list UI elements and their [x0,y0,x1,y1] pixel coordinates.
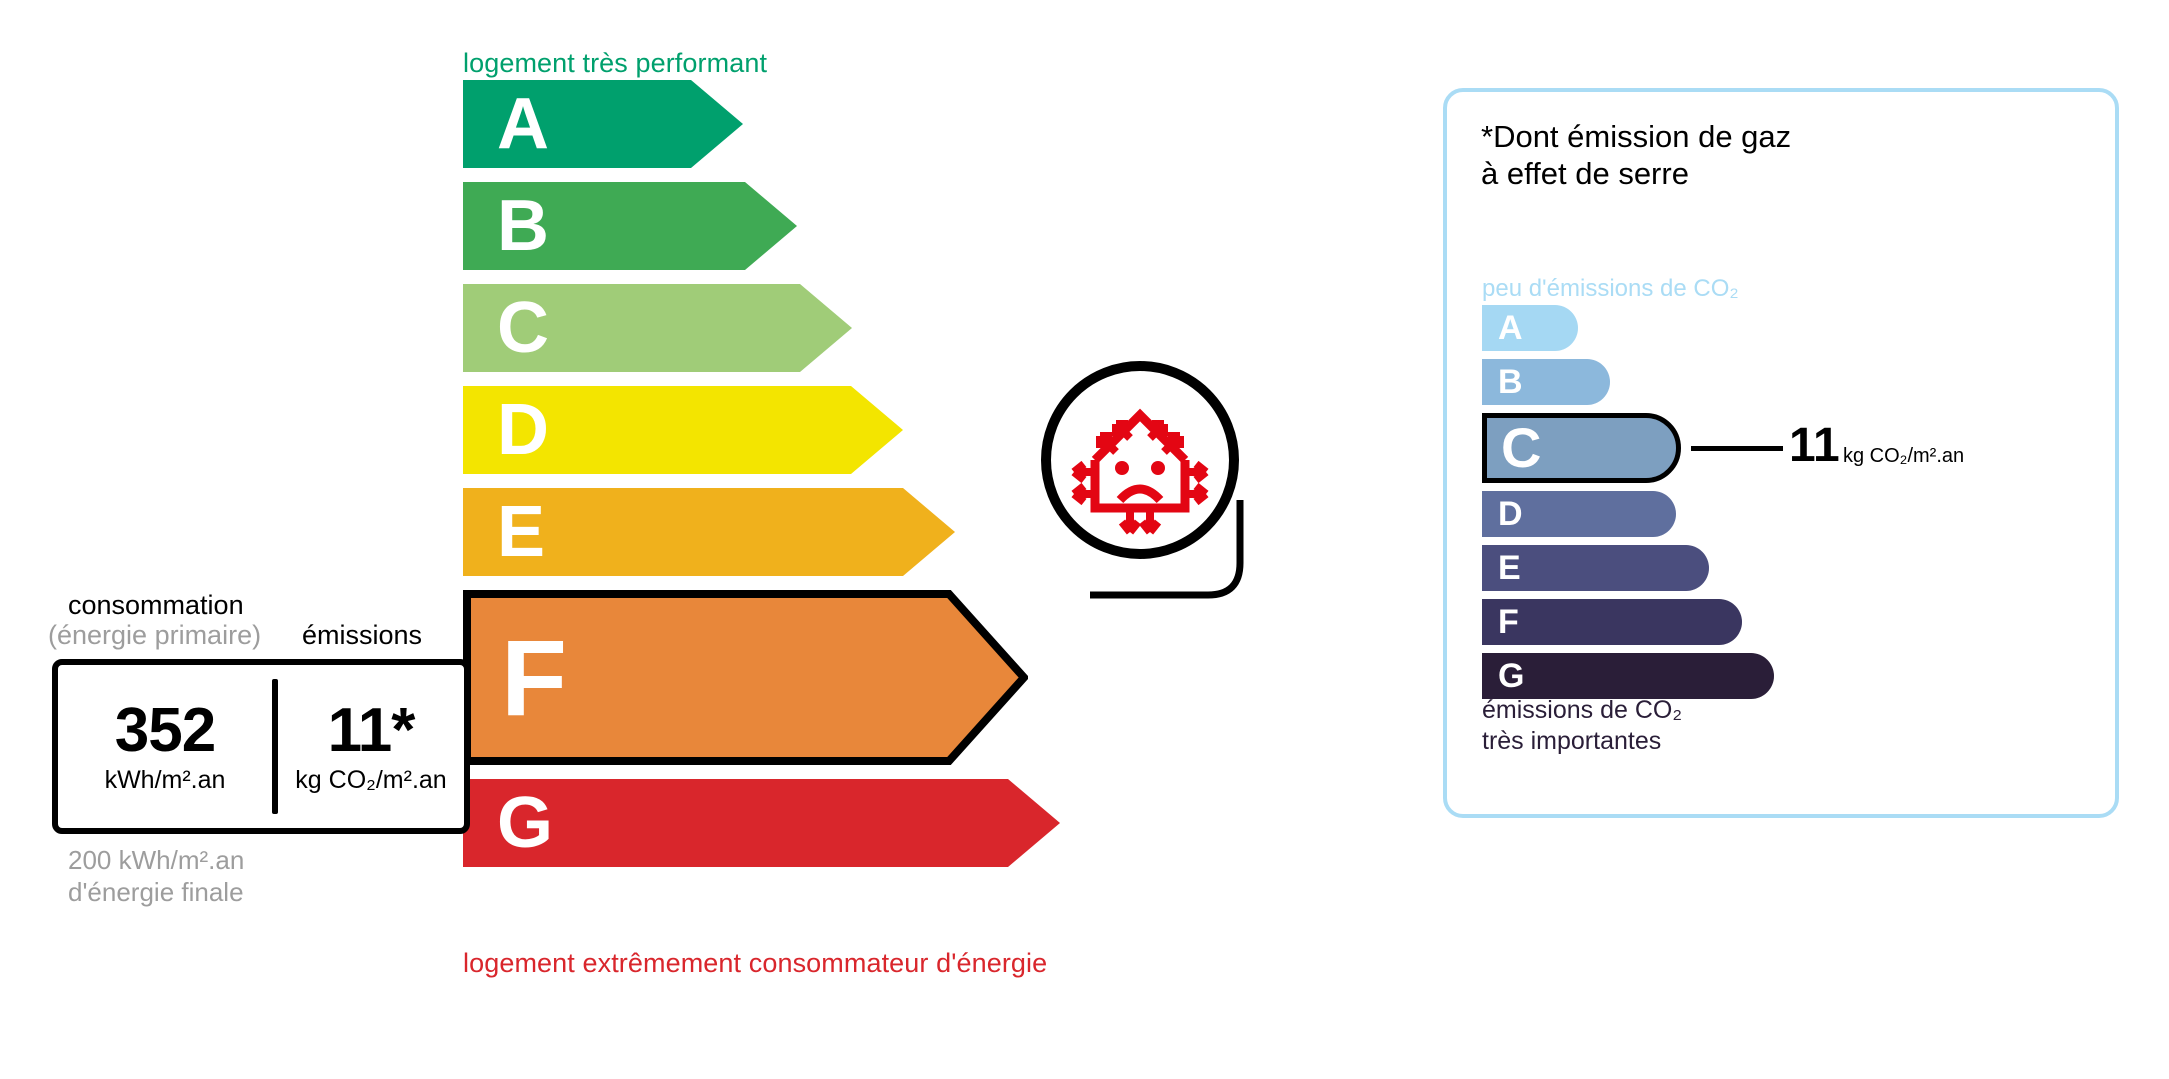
emissions-cell: 11* kg CO₂/m².an [278,665,464,828]
co2-bar-letter-g: G [1498,659,1524,693]
co2-title-line2: à effet de serre [1481,155,1791,192]
co2-callout-value: 11 [1789,422,1840,470]
co2-callout-line [1691,446,1783,451]
final-energy-note: 200 kWh/m².an d'énergie finale [68,845,244,908]
emissions-unit: kg CO₂/m².an [295,768,446,793]
emissions-value: 11* [328,700,415,762]
final-energy-line1: 200 kWh/m².an [68,845,244,877]
band-letter-b: B [497,190,549,262]
consumption-unit: kWh/m².an [105,768,226,793]
co2-bar-e: E [1482,545,1709,591]
band-letter-d: D [497,394,549,466]
co2-bar-letter-d: D [1498,497,1523,531]
co2-bar-g: G [1482,653,1774,699]
co2-bottom-line1: émissions de CO₂ [1482,695,1682,726]
label-energie-primaire: (énergie primaire) [48,620,261,651]
band-letter-a: A [497,88,549,160]
dpe-chart: logement très performant ABCDEFG logemen… [0,0,2169,1079]
co2-bar-letter-f: F [1498,605,1519,639]
co2-bar-letter-a: A [1498,311,1523,345]
energy-band-a: A [463,80,743,168]
value-box: 352 kWh/m².an 11* kg CO₂/m².an [52,659,470,834]
band-letter-c: C [497,292,549,364]
energy-band-b: B [463,182,797,270]
co2-bar-d: D [1482,491,1676,537]
co2-bottom-line2: très importantes [1482,726,1682,757]
scale-bottom-label: logement extrêmement consommateur d'éner… [463,948,1047,979]
co2-bar-letter-b: B [1498,365,1523,399]
label-emissions: émissions [302,620,422,651]
band-letter-g: G [497,787,553,859]
co2-callout-unit: kg CO₂/m².an [1843,446,1964,466]
band-letter-e: E [497,496,545,568]
energy-band-e: E [463,488,955,576]
consumption-cell: 352 kWh/m².an [58,665,272,828]
co2-bar-c: C [1482,413,1681,483]
consumption-value: 352 [115,700,215,762]
co2-bar-b: B [1482,359,1610,405]
co2-bar-letter-c: C [1501,420,1541,476]
label-consommation: consommation [68,590,244,621]
energy-band-c: C [463,284,852,372]
co2-bottom-note: émissions de CO₂ très importantes [1482,695,1682,756]
co2-top-note: peu d'émissions de CO₂ [1482,275,1739,303]
band-letter-f: F [501,624,567,732]
scale-top-label: logement très performant [463,48,767,79]
energy-band-f: F [463,590,1028,765]
sad-house-badge [1040,360,1240,560]
energy-band-d: D [463,386,903,474]
co2-panel-title: *Dont émission de gaz à effet de serre [1481,118,1791,192]
final-energy-line2: d'énergie finale [68,877,244,909]
co2-bar-a: A [1482,305,1578,351]
co2-bar-f: F [1482,599,1742,645]
co2-bar-letter-e: E [1498,551,1521,585]
co2-title-line1: *Dont émission de gaz [1481,118,1791,155]
energy-band-g: G [463,779,1060,867]
